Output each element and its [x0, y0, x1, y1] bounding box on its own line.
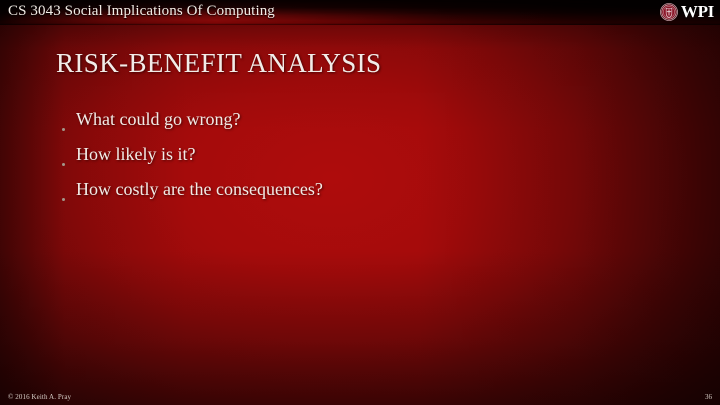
wpi-seal-icon	[660, 3, 678, 21]
bullet-list: What could go wrong? How likely is it? H…	[60, 108, 660, 213]
slide-title: RISK-BENEFIT ANALYSIS	[56, 47, 381, 79]
wpi-wordmark: WPI	[681, 3, 714, 21]
footer-copyright: © 2016 Keith A. Pray	[8, 392, 71, 402]
bullet-text: How costly are the consequences?	[76, 178, 323, 200]
presentation-slide: CS 3043 Social Implications Of Computing…	[0, 0, 720, 405]
bullet-item: How likely is it?	[60, 143, 660, 178]
wpi-logo: WPI	[660, 1, 714, 23]
slide-page-number: 36	[705, 392, 712, 402]
course-title: CS 3043 Social Implications Of Computing	[8, 1, 275, 21]
bullet-text: How likely is it?	[76, 143, 196, 165]
bullet-item: How costly are the consequences?	[60, 178, 660, 213]
slide-header-bar: CS 3043 Social Implications Of Computing…	[0, 0, 720, 25]
bullet-item: What could go wrong?	[60, 108, 660, 143]
bullet-text: What could go wrong?	[76, 108, 240, 130]
